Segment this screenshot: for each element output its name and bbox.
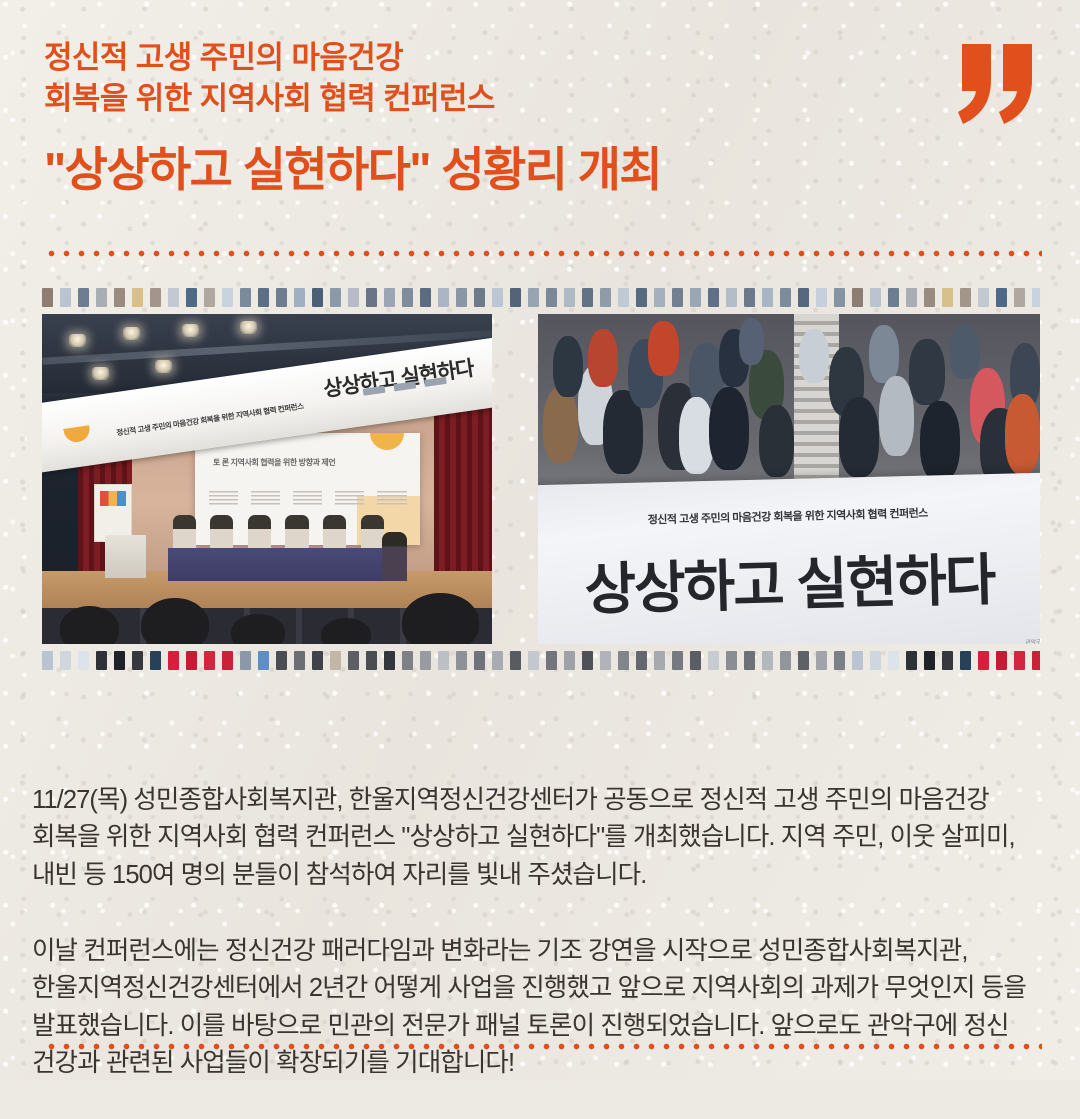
filmstrip-cell [78, 288, 89, 307]
filmstrip-cell [690, 651, 701, 670]
filmstrip-cell [456, 651, 467, 670]
filmstrip-cell [258, 651, 269, 670]
stage-light [69, 334, 86, 347]
filmstrip-cell [888, 651, 899, 670]
filmstrip-cell [1014, 288, 1025, 307]
filmstrip-cell [186, 288, 197, 307]
filmstrip-cell [132, 651, 143, 670]
filmstrip-cell [78, 651, 89, 670]
filmstrip-cell [582, 288, 593, 307]
filmstrip-cell [114, 288, 125, 307]
filmstrip-cell [1032, 651, 1040, 670]
filmstrip-cell [330, 288, 341, 307]
group-photo[interactable]: 정신적 고생 주민의 마음건강 회복을 위한 지역사회 협력 컨퍼런스 상상하고… [538, 314, 1040, 644]
filmstrip-cell [636, 651, 647, 670]
stage-light [240, 321, 257, 334]
filmstrip-cell [726, 651, 737, 670]
photo-row: 토 론 지역사회 협력을 위한 방향과 제언 상상하고 실현하다 정신적 고생 … [42, 314, 1040, 644]
filmstrip-cell [924, 288, 935, 307]
filmstrip-cell [798, 288, 809, 307]
filmstrip-cell [690, 288, 701, 307]
screen-columns [209, 491, 407, 507]
filmstrip-cell [384, 288, 395, 307]
filmstrip-cell [438, 651, 449, 670]
filmstrip-bottom [42, 651, 1040, 670]
filmstrip-cell [150, 651, 161, 670]
filmstrip-cell [798, 651, 809, 670]
filmstrip-cell [240, 651, 251, 670]
filmstrip-top [42, 288, 1040, 307]
filmstrip-cell [456, 288, 467, 307]
filmstrip-cell [312, 288, 323, 307]
filmstrip-cell [204, 651, 215, 670]
divider-bottom [44, 1043, 1042, 1050]
filmstrip-cell [150, 288, 161, 307]
filmstrip-cell [564, 651, 575, 670]
filmstrip-cell [366, 288, 377, 307]
filmstrip-cell [1032, 288, 1040, 307]
stage-light [155, 360, 172, 373]
filmstrip-cell [276, 651, 287, 670]
filmstrip-cell [960, 288, 971, 307]
paragraph-1: 11/27(목) 성민종합사회복지관, 한울지역정신건강센터가 공동으로 정신적… [32, 782, 1048, 894]
filmstrip-cell [528, 288, 539, 307]
stage-banner-subtitle: 정신적 고생 주민의 마음건강 회복을 위한 지역사회 협력 컨퍼런스 [116, 400, 305, 438]
group-banner-logo: 관악구 [1025, 637, 1040, 644]
filmstrip-cell [654, 651, 665, 670]
filmstrip-cell [780, 288, 791, 307]
filmstrip-cell [582, 651, 593, 670]
filmstrip-cell [654, 288, 665, 307]
kicker-text: 정신적 고생 주민의 마음건강 회복을 위한 지역사회 협력 컨퍼런스 [44, 38, 1036, 120]
divider-top [44, 250, 1042, 257]
filmstrip-cell [708, 288, 719, 307]
filmstrip-cell [114, 651, 125, 670]
filmstrip-cell [402, 288, 413, 307]
stage-curtain-right [434, 393, 493, 578]
filmstrip-cell [438, 288, 449, 307]
filmstrip-cell [960, 651, 971, 670]
filmstrip-cell [132, 288, 143, 307]
filmstrip-cell [870, 288, 881, 307]
filmstrip-cell [240, 288, 251, 307]
filmstrip-cell [780, 651, 791, 670]
filmstrip-cell [816, 288, 827, 307]
filmstrip-cell [816, 651, 827, 670]
screen-title-text: 토 론 지역사회 협력을 위한 방향과 제언 [213, 457, 335, 468]
filmstrip-cell [564, 288, 575, 307]
filmstrip-cell [546, 288, 557, 307]
filmstrip-cell [474, 288, 485, 307]
filmstrip-cell [168, 288, 179, 307]
filmstrip-cell [420, 651, 431, 670]
filmstrip-cell [852, 651, 863, 670]
filmstrip-cell [726, 288, 737, 307]
filmstrip-cell [348, 651, 359, 670]
audience-crowd [538, 314, 1040, 496]
filmstrip-cell [888, 288, 899, 307]
filmstrip-cell [1014, 651, 1025, 670]
stage-banner-title: 상상하고 실현하다 [321, 352, 475, 403]
filmstrip-cell [42, 651, 53, 670]
filmstrip-cell [636, 288, 647, 307]
screen-arc-decor [370, 433, 404, 450]
filmstrip-cell [492, 651, 503, 670]
filmstrip-cell [834, 651, 845, 670]
filmstrip-cell [42, 288, 53, 307]
filmstrip-cell [510, 651, 521, 670]
filmstrip-cell [186, 651, 197, 670]
filmstrip-cell [708, 651, 719, 670]
photo-gallery: 토 론 지역사회 협력을 위한 방향과 제언 상상하고 실현하다 정신적 고생 … [42, 288, 1040, 670]
filmstrip-cell [852, 288, 863, 307]
filmstrip-cell [978, 288, 989, 307]
filmstrip-cell [906, 288, 917, 307]
filmstrip-cell [600, 288, 611, 307]
paragraph-2: 이날 컨퍼런스에는 정신건강 패러다임과 변화라는 기조 강연을 시작으로 성민… [32, 933, 1048, 1082]
filmstrip-cell [834, 288, 845, 307]
filmstrip-cell [60, 288, 71, 307]
filmstrip-cell [96, 651, 107, 670]
filmstrip-cell [276, 288, 287, 307]
filmstrip-cell [258, 288, 269, 307]
filmstrip-cell [492, 288, 503, 307]
filmstrip-cell [348, 288, 359, 307]
filmstrip-cell [672, 651, 683, 670]
filmstrip-cell [600, 651, 611, 670]
group-banner: 정신적 고생 주민의 마음건강 회복을 위한 지역사회 협력 컨퍼런스 상상하고… [538, 473, 1040, 644]
filmstrip-cell [294, 651, 305, 670]
filmstrip-cell [96, 288, 107, 307]
filmstrip-cell [60, 651, 71, 670]
filmstrip-cell [672, 288, 683, 307]
filmstrip-cell [510, 288, 521, 307]
filmstrip-cell [546, 651, 557, 670]
conference-stage-photo[interactable]: 토 론 지역사회 협력을 위한 방향과 제언 상상하고 실현하다 정신적 고생 … [42, 314, 492, 644]
filmstrip-cell [618, 651, 629, 670]
filmstrip-cell [312, 651, 323, 670]
filmstrip-cell [474, 651, 485, 670]
event-standee [94, 484, 132, 542]
header: 정신적 고생 주민의 마음건강 회복을 위한 지역사회 협력 컨퍼런스 "상상하… [44, 38, 1036, 198]
audience-heads [42, 571, 492, 644]
banner-arc-decor [63, 425, 91, 444]
stage-light [182, 324, 199, 337]
filmstrip-cell [222, 651, 233, 670]
filmstrip-cell [204, 288, 215, 307]
filmstrip-cell [870, 651, 881, 670]
filmstrip-cell [330, 651, 341, 670]
group-banner-title: 상상하고 실현하다 [584, 535, 996, 626]
filmstrip-cell [402, 651, 413, 670]
body-copy: 11/27(목) 성민종합사회복지관, 한울지역정신건강센터가 공동으로 정신적… [32, 745, 1048, 1119]
group-banner-subtitle: 정신적 고생 주민의 마음건강 회복을 위한 지역사회 협력 컨퍼런스 [647, 504, 927, 527]
filmstrip-cell [996, 288, 1007, 307]
filmstrip-cell [762, 651, 773, 670]
page-title: "상상하고 실현하다" 성황리 개최 [44, 142, 1036, 198]
filmstrip-cell [924, 651, 935, 670]
filmstrip-cell [384, 651, 395, 670]
filmstrip-cell [618, 288, 629, 307]
closing-quote-icon [958, 42, 1036, 126]
stage-light [123, 327, 140, 340]
filmstrip-cell [978, 651, 989, 670]
filmstrip-cell [942, 288, 953, 307]
filmstrip-cell [366, 651, 377, 670]
filmstrip-cell [762, 288, 773, 307]
filmstrip-cell [294, 288, 305, 307]
filmstrip-cell [420, 288, 431, 307]
stage-light [92, 367, 109, 380]
filmstrip-cell [996, 651, 1007, 670]
filmstrip-cell [942, 651, 953, 670]
panelists [173, 515, 385, 551]
filmstrip-cell [744, 288, 755, 307]
social-card: 정신적 고생 주민의 마음건강 회복을 위한 지역사회 협력 컨퍼런스 "상상하… [0, 0, 1080, 1080]
filmstrip-cell [906, 651, 917, 670]
filmstrip-cell [528, 651, 539, 670]
filmstrip-cell [222, 288, 233, 307]
filmstrip-cell [168, 651, 179, 670]
filmstrip-cell [744, 651, 755, 670]
